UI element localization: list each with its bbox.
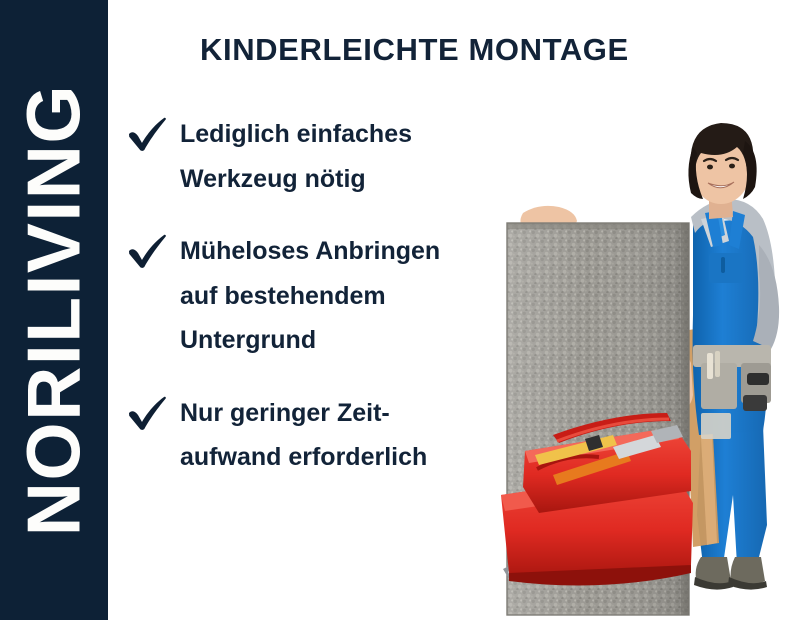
check-icon [126,231,170,269]
list-item-line: Werkzeug nötig [180,157,524,202]
list-item-line: aufwand erforderlich [180,435,524,480]
list-item-line: Müheloses Anbringen [180,229,524,274]
list-item: Nur geringer Zeit- aufwand erforderlich [124,391,524,480]
list-item: Müheloses Anbringen auf bestehendem Unte… [124,229,524,363]
page-title: KINDERLEICHTE MONTAGE [200,33,629,67]
list-item-line: Untergrund [180,318,524,363]
craftswoman-photo [495,95,800,620]
check-icon [126,114,170,152]
list-item-line: Nur geringer Zeit- [180,391,524,436]
benefit-list: Lediglich einfaches Werkzeug nötig Mühel… [124,112,524,480]
brand-sidebar: NORILIVING [0,0,108,620]
check-icon [126,393,170,431]
brand-name: NORILIVING [17,84,92,537]
list-item: Lediglich einfaches Werkzeug nötig [124,112,524,201]
poster-root: NORILIVING KINDERLEICHTE MONTAGE Ledigli… [0,0,800,620]
list-item-line: Lediglich einfaches [180,112,524,157]
list-item-line: auf bestehendem [180,274,524,319]
